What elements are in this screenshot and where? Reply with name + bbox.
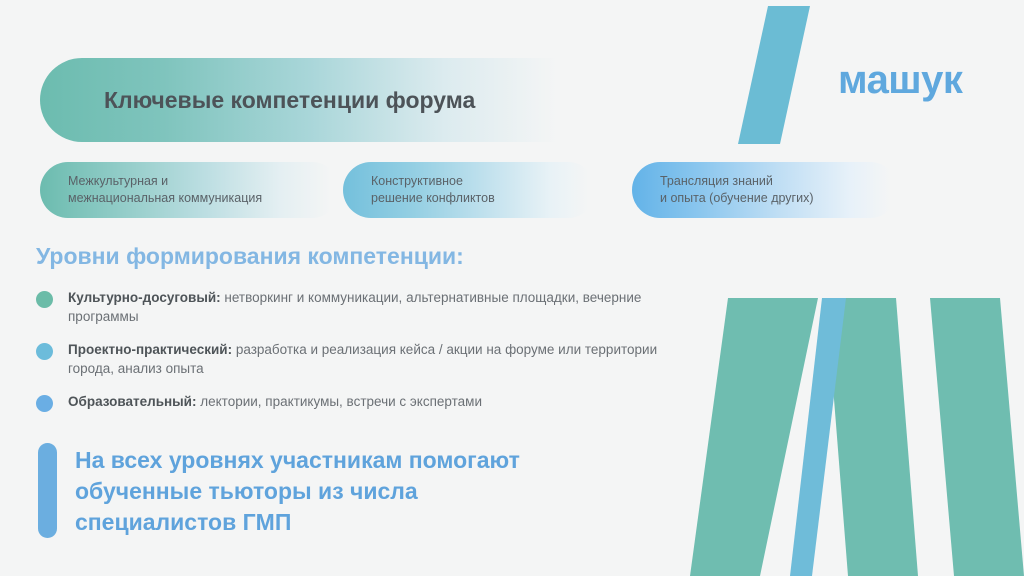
list-item-text: Культурно-досуговый: нетворкинг и коммун…: [68, 288, 676, 326]
logo-wordmark: машук: [838, 58, 962, 103]
list-item-label: Проектно-практический:: [68, 342, 232, 357]
list-item-label: Образовательный:: [68, 394, 196, 409]
page-title: Ключевые компетенции форума: [40, 87, 475, 114]
watermark-m-left-stroke: [690, 298, 818, 576]
watermark-m-right-stroke: [826, 298, 918, 576]
logo-slash-icon: [728, 0, 848, 150]
list-item-text: Проектно-практический: разработка и реал…: [68, 340, 676, 378]
competency-pill-conflict-resolution: Конструктивное решение конфликтов: [343, 162, 596, 218]
competency-pill-label: Конструктивное решение конфликтов: [343, 173, 495, 207]
bullet-dot-icon: [36, 291, 53, 308]
tutors-callout: На всех уровнях участникам помогают обуч…: [38, 443, 520, 538]
levels-list: Культурно-досуговый: нетворкинг и коммун…: [36, 288, 676, 426]
competency-pill-label: Межкультурная и межнациональная коммуник…: [40, 173, 262, 207]
callout-accent-bar: [38, 443, 57, 538]
slide-title-pill: Ключевые компетенции форума: [40, 58, 602, 142]
callout-text: На всех уровнях участникам помогают обуч…: [75, 443, 520, 538]
watermark-slanted-bar: [930, 298, 1024, 576]
bullet-dot-icon: [36, 395, 53, 412]
list-item: Образовательный: лектории, практикумы, в…: [36, 392, 676, 412]
list-item-label: Культурно-досуговый:: [68, 290, 221, 305]
levels-section-heading: Уровни формирования компетенции:: [36, 243, 464, 270]
list-item-description: лектории, практикумы, встречи с эксперта…: [196, 394, 482, 409]
slide-root: машук Ключевые компетенции форума Межкул…: [0, 0, 1024, 576]
list-item: Культурно-досуговый: нетворкинг и коммун…: [36, 288, 676, 326]
brand-logo: машук: [728, 0, 1024, 150]
list-item: Проектно-практический: разработка и реал…: [36, 340, 676, 378]
competency-pill-intercultural: Межкультурная и межнациональная коммуник…: [40, 162, 340, 218]
watermark-diamond: [790, 298, 846, 576]
competency-pill-knowledge-transfer: Трансляция знаний и опыта (обучение друг…: [632, 162, 898, 218]
bullet-dot-icon: [36, 343, 53, 360]
list-item-text: Образовательный: лектории, практикумы, в…: [68, 392, 482, 411]
competency-pill-label: Трансляция знаний и опыта (обучение друг…: [632, 173, 814, 207]
